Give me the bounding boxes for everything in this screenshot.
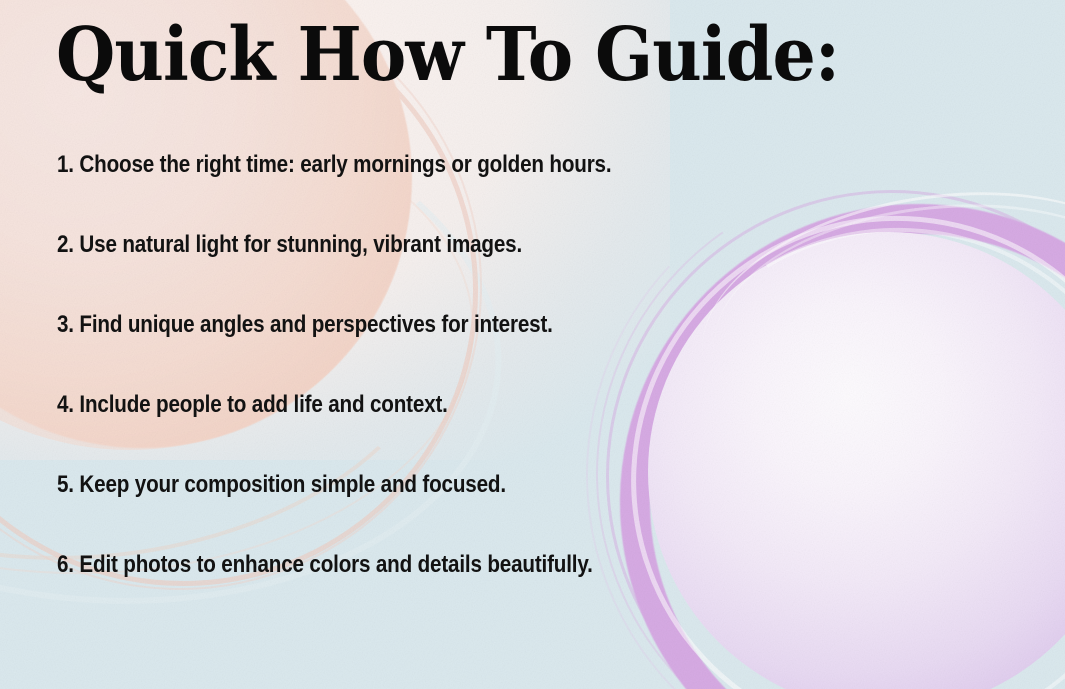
- tips-list: 1. Choose the right time: early mornings…: [57, 152, 757, 632]
- list-item: 1. Choose the right time: early mornings…: [57, 152, 659, 232]
- page-title: Quick How To Guide:: [56, 18, 839, 92]
- poster-content: Quick How To Guide: 1. Choose the right …: [0, 0, 1065, 689]
- list-item: 5. Keep your composition simple and focu…: [57, 472, 659, 552]
- list-item: 2. Use natural light for stunning, vibra…: [57, 232, 659, 312]
- poster-canvas: Quick How To Guide: 1. Choose the right …: [0, 0, 1065, 689]
- list-item: 6. Edit photos to enhance colors and det…: [57, 552, 659, 632]
- list-item: 3. Find unique angles and perspectives f…: [57, 312, 659, 392]
- list-item: 4. Include people to add life and contex…: [57, 392, 659, 472]
